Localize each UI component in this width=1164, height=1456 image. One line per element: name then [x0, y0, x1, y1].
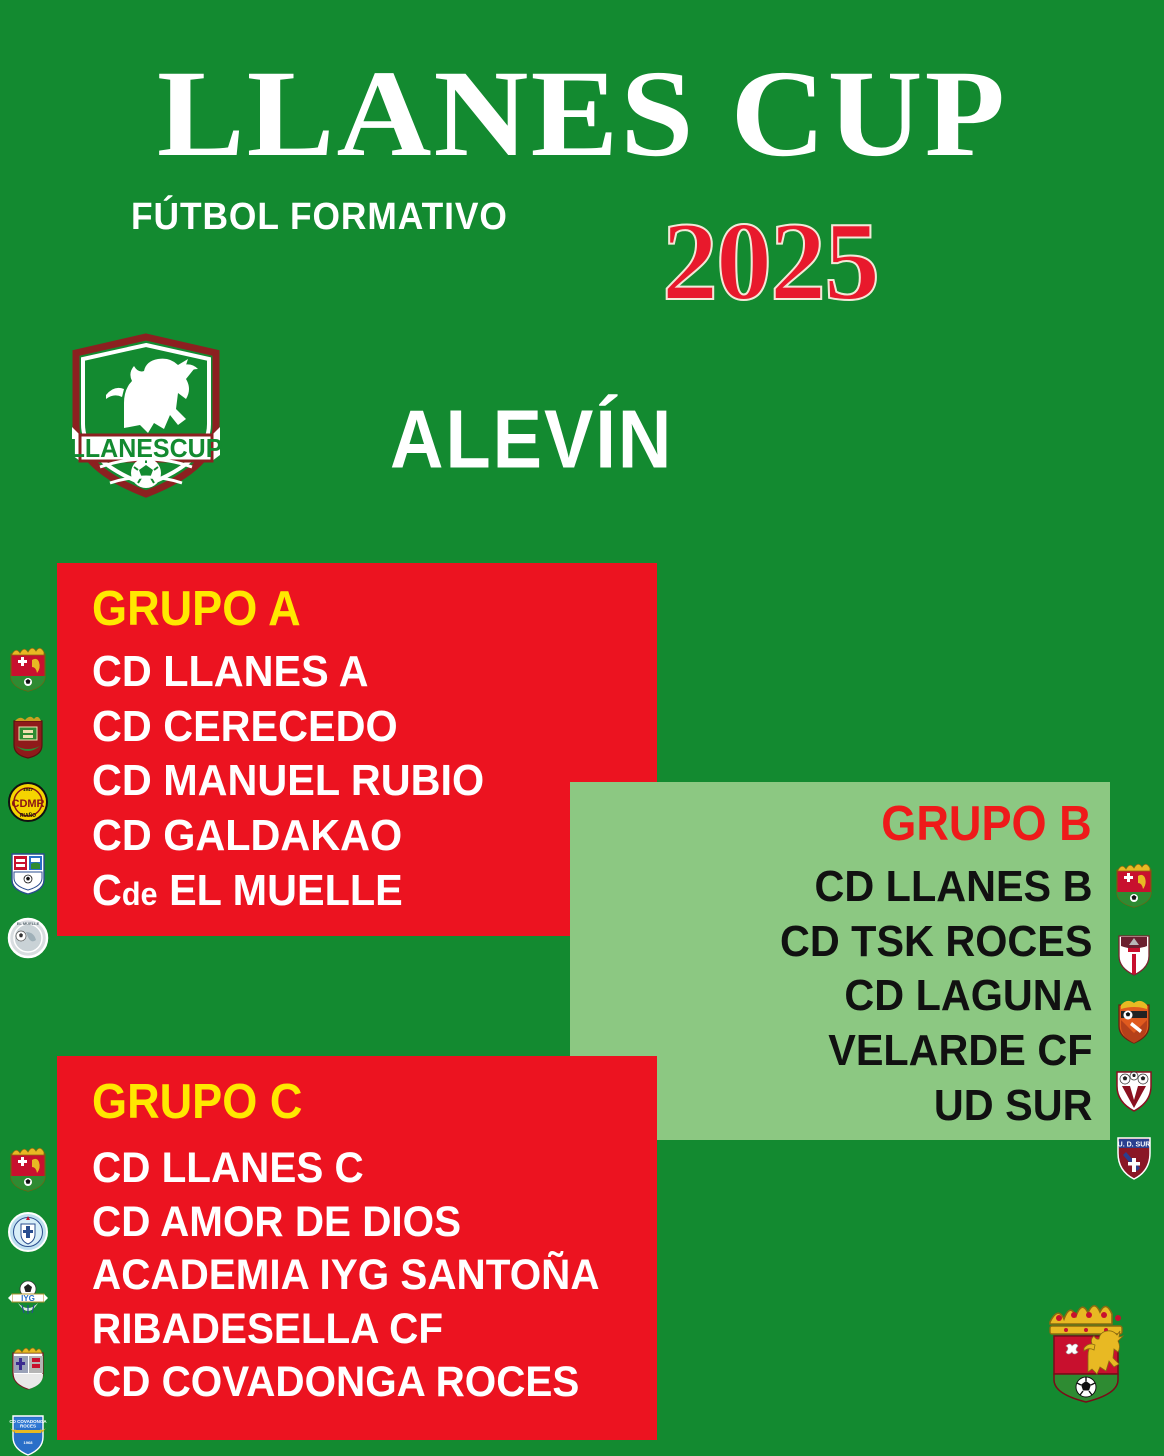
list-item: CD LLANES B [779, 862, 1092, 917]
group-c-badge-strip: IYG CD COVADONGA ROCES [6, 1140, 50, 1456]
cd-el-muelle-badge: EL MUELLE [6, 912, 50, 964]
svg-text:IYG: IYG [21, 1294, 35, 1303]
list-item: CD GALDAKAO [92, 811, 484, 866]
svg-text:ROCES: ROCES [20, 1424, 36, 1429]
cd-galdakao-badge [6, 844, 50, 896]
velarde-cf-badge [1112, 1060, 1156, 1112]
list-item: CD LLANES A [92, 647, 484, 702]
svg-text:RIAÑO: RIAÑO [20, 812, 36, 819]
poster-subtitle: FÚTBOL FORMATIVO [131, 196, 508, 239]
list-item: CD TSK ROCES [779, 917, 1092, 972]
category-label: ALEVÍN [390, 398, 673, 481]
group-a-panel: GRUPO A CD LLANES A CD CERECEDO CD MANUE… [57, 563, 657, 936]
cd-laguna-badge [1112, 992, 1156, 1044]
poster-year: 2025 [662, 206, 878, 318]
list-item: CD CERECEDO [92, 702, 484, 757]
list-item: CD LLANES C [92, 1144, 600, 1198]
group-c-panel: GRUPO C CD LLANES C CD AMOR DE DIOS ACAD… [57, 1056, 657, 1440]
cd-llanes-badge [6, 640, 50, 692]
list-item: RIBADESELLA CF [92, 1305, 600, 1359]
list-item: CD COVADONGA ROCES [92, 1358, 600, 1412]
cd-cerecedo-badge [6, 708, 50, 760]
group-c-team-list: CD LLANES C CD AMOR DE DIOS ACADEMIA IYG… [92, 1144, 600, 1412]
academia-iyg-santona-badge: IYG [6, 1272, 50, 1324]
cd-llanes-badge [1112, 856, 1156, 908]
tournament-poster: LLANES CUP FÚTBOL FORMATIVO 2025 ALEVÍN … [0, 0, 1164, 1440]
llanescup-shield-logo: LLANESCUP [66, 333, 226, 498]
cd-tsk-roces-badge [1112, 924, 1156, 976]
page-title: LLANES CUP [0, 52, 1164, 176]
list-item: UD SUR [779, 1081, 1092, 1136]
svg-text:EL MUELLE: EL MUELLE [17, 921, 40, 926]
svg-text:U. D. SUR: U. D. SUR [1118, 1142, 1151, 1149]
svg-text:1947: 1947 [23, 787, 34, 792]
group-a-title: GRUPO A [92, 585, 301, 634]
cd-covadonga-roces-badge: CD COVADONGA ROCES 1968 [6, 1404, 50, 1456]
group-a-badge-strip: CDMR 1947 RIAÑO [6, 640, 50, 964]
cd-amor-de-dios-badge [6, 1206, 50, 1258]
group-c-title: GRUPO C [92, 1078, 302, 1127]
group-a-team-list: CD LLANES A CD CERECEDO CD MANUEL RUBIO … [92, 647, 484, 921]
ud-sur-badge: U. D. SUR [1112, 1128, 1156, 1180]
list-item: VELARDE CF [779, 1026, 1092, 1081]
cd-llanes-badge [6, 1140, 50, 1192]
group-b-title: GRUPO B [882, 800, 1092, 849]
list-item: CD LAGUNA [779, 971, 1092, 1026]
svg-text:CDMR: CDMR [12, 798, 45, 810]
list-item: Cde EL MUELLE [92, 866, 484, 921]
cd-llanes-crest [1040, 1296, 1132, 1408]
ribadesella-cf-badge [6, 1338, 50, 1390]
group-b-team-list: CD LLANES B CD TSK ROCES CD LAGUNA VELAR… [779, 862, 1092, 1136]
list-item: ACADEMIA IYG SANTOÑA [92, 1251, 600, 1305]
list-item: CD AMOR DE DIOS [92, 1198, 600, 1252]
cd-manuel-rubio-badge: CDMR 1947 RIAÑO [6, 776, 50, 828]
list-item: CD MANUEL RUBIO [92, 756, 484, 811]
group-b-badge-strip: U. D. SUR [1112, 856, 1156, 1180]
svg-text:1968: 1968 [24, 1440, 34, 1445]
